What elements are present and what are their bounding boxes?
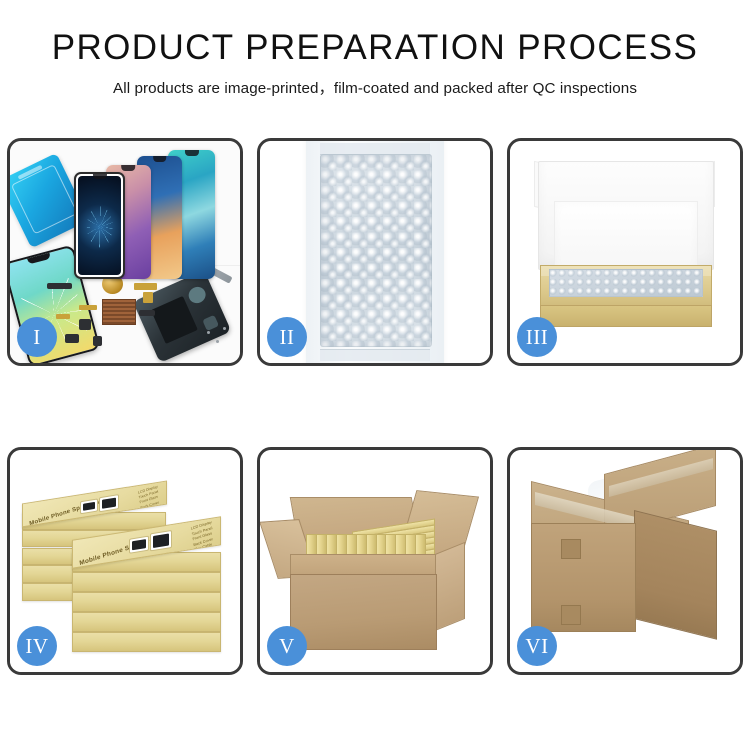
page-title: PRODUCT PREPARATION PROCESS xyxy=(0,30,750,67)
carton-side-face xyxy=(634,510,717,639)
step-badge-5: V xyxy=(267,626,307,666)
seal-bottom xyxy=(320,349,430,361)
page-header: PRODUCT PREPARATION PROCESS All products… xyxy=(0,0,750,98)
step-panel-carton-filling: V xyxy=(257,447,493,675)
wrapped-product xyxy=(549,269,703,298)
product-preparation-page: PRODUCT PREPARATION PROCESS All products… xyxy=(0,0,750,750)
connector-pad xyxy=(102,299,136,325)
step-badge-1: I xyxy=(17,317,57,357)
carton-front xyxy=(290,574,437,649)
bubble-wrap xyxy=(320,154,432,347)
step-panel-bubble-wrapping: II xyxy=(257,138,493,366)
step-badge-3: III xyxy=(517,317,557,357)
foam-sheet xyxy=(554,201,699,272)
step-badge-4: IV xyxy=(17,626,57,666)
process-steps-grid: I II xyxy=(7,138,743,675)
step-badge-2: II xyxy=(267,317,307,357)
step-panel-inner-box-packing: III xyxy=(507,138,743,366)
carton-front-face xyxy=(531,523,637,632)
carton-side xyxy=(435,542,465,631)
step-panel-carton-sealed: VI xyxy=(507,447,743,675)
page-subtitle: All products are image-printed，film-coat… xyxy=(0,76,750,98)
kraft-box-front xyxy=(540,305,712,327)
step-badge-6: VI xyxy=(517,626,557,666)
step-panel-products-overview: I xyxy=(7,138,243,366)
phone-lineup xyxy=(74,150,230,279)
step-panel-boxes-stacked: Mobile Phone Spare Parts LCD DisplayTouc… xyxy=(7,447,243,675)
